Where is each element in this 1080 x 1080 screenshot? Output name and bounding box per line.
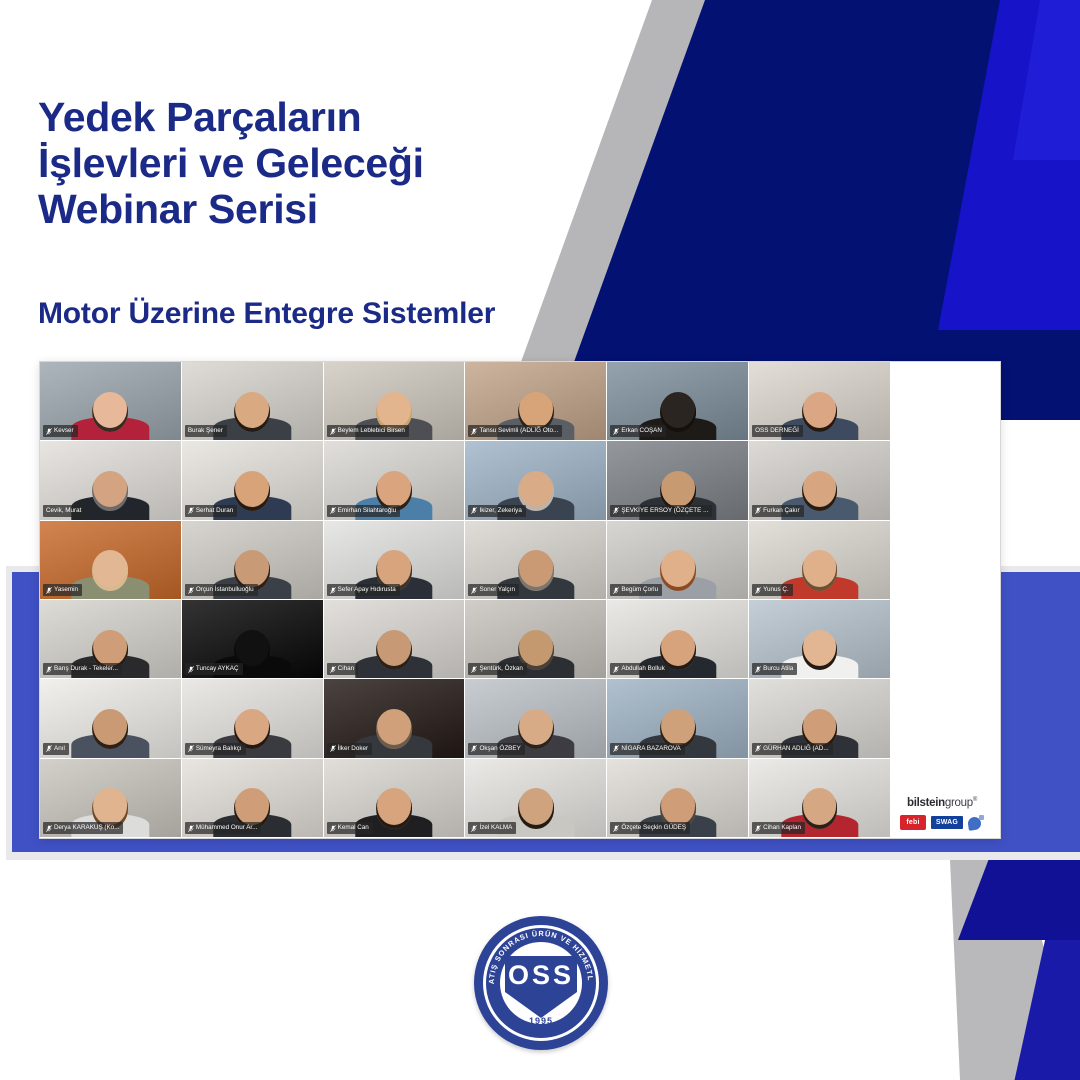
blue-print-logo [968,815,984,830]
swag-logo: SWAG [931,816,963,829]
participant-tile[interactable]: Begüm Çorlu [607,521,748,599]
participant-name-tag: Sefer Apay Hıdırusta [327,584,400,596]
participant-name-tag: Okşan ÖZBEY [468,743,524,755]
participant-tile[interactable]: Cihan Kaplan [749,759,890,837]
participant-name-tag: Begüm Çorlu [610,584,662,596]
participant-name: İzel KALMA [479,824,512,832]
mic-muted-icon [188,745,194,752]
mic-muted-icon [330,587,336,594]
brand-logos-row: febi SWAG [892,815,992,830]
participant-name-tag: Emirhan Silahtaroğlu [327,505,400,517]
participant-tile[interactable]: Erkan COŞAN [607,362,748,440]
participant-name: Burcu Atila [763,665,793,673]
mic-muted-icon [755,666,761,673]
participant-name-tag: Cevik, Murat [43,505,85,517]
participant-name: Serhat Duran [196,507,233,515]
participant-tile[interactable]: Soner Yalçın [465,521,606,599]
mic-muted-icon [755,745,761,752]
oss-center-text: OSS [474,960,608,991]
mic-muted-icon [188,507,194,514]
participant-name: Barış Durak - Tekeler... [54,665,118,673]
mic-muted-icon [755,587,761,594]
participant-tile[interactable]: Burak Şener [182,362,323,440]
participant-tile[interactable]: Tansu Sevimli (ADLIĞ Oto... [465,362,606,440]
mic-muted-icon [471,428,477,435]
participant-name: Özçete Seçkin GÜDEŞ [621,824,686,832]
participant-name: NİGARA BAZAROVA [621,745,680,753]
participant-name: Furkan Çakır [763,507,799,515]
participant-tile[interactable]: Abdullah Bolluk [607,600,748,678]
participant-silhouette [221,392,283,441]
participant-name: Kevser [54,427,74,435]
participant-name: Tansu Sevimli (ADLIĞ Oto... [479,427,558,435]
participant-name-tag: Şentürk, Özkan [468,663,526,675]
participant-tile[interactable]: ŞEVKİYE ERSOY (ÖZÇETE ... [607,441,748,519]
participant-name-tag: NİGARA BAZAROVA [610,743,684,755]
mic-muted-icon [613,745,619,752]
participant-name-tag: Ikizer, Zekeriya [468,505,525,517]
participant-tile[interactable]: Yasemin [40,521,181,599]
participant-tile[interactable]: Okşan ÖZBEY [465,679,606,757]
title-line-1: Yedek Parçaların [38,95,424,141]
participant-tile[interactable]: Sefer Apay Hıdırusta [324,521,465,599]
participant-name-tag: GÜRHAN ADLIĞ (AD... [752,743,832,755]
mic-muted-icon [188,825,194,832]
mic-muted-icon [330,666,336,673]
participant-name: Tuncay AYKAÇ [196,665,239,673]
participant-name-tag: Barış Durak - Tekeler... [43,663,122,675]
participant-tile[interactable]: Şentürk, Özkan [465,600,606,678]
participant-tile[interactable]: Cevik, Murat [40,441,181,519]
participant-name: Şentürk, Özkan [479,665,522,673]
participant-name: Erkan COŞAN [621,427,662,435]
participant-silhouette [363,709,425,758]
oss-logo: OTOMOTİV SATIŞ SONRASI ÜRÜN VE HİZMETLER… [474,916,608,1050]
participant-name: Mühammed Onur Ar... [196,824,258,832]
mic-muted-icon [613,666,619,673]
mic-muted-icon [330,825,336,832]
participant-name-tag: Cihan Kaplan [752,822,805,834]
mic-muted-icon [188,587,194,594]
participant-name: OSS DERNEĞİ [755,427,799,435]
participant-name: Kemal Can [338,824,369,832]
participant-tile[interactable]: Yunus Ç. [749,521,890,599]
blue-print-tick-icon [979,815,984,820]
participant-name: Abdullah Bolluk [621,665,664,673]
participant-name-tag: Serhat Duran [185,505,237,517]
video-conference-panel: KevserBurak ŞenerBeylem Leblebici Birsen… [40,362,1000,838]
registered-mark: ® [973,797,977,803]
mic-muted-icon [613,428,619,435]
participant-tile[interactable]: Kevser [40,362,181,440]
participant-silhouette [789,630,851,679]
title-line-3: Webinar Serisi [38,187,424,233]
participant-tile[interactable]: Burcu Atila [749,600,890,678]
participant-silhouette [79,471,141,520]
mic-muted-icon [471,666,477,673]
participant-name: Ikizer, Zekeriya [479,507,521,515]
participant-name-tag: Tansu Sevimli (ADLIĞ Oto... [468,425,562,437]
participant-name: Cevik, Murat [46,507,81,515]
mic-muted-icon [330,507,336,514]
participant-name: ŞEVKİYE ERSOY (ÖZÇETE ... [621,507,708,515]
bilstein-group-logo: bilsteingroup® febi SWAG [892,797,992,830]
participant-tile[interactable]: Özçete Seçkin GÜDEŞ [607,759,748,837]
mic-muted-icon [471,825,477,832]
title-line-2: İşlevleri ve Geleceği [38,141,424,187]
participant-name-tag: Burak Şener [185,425,227,437]
participant-tile[interactable]: Ikizer, Zekeriya [465,441,606,519]
participant-name-tag: Soner Yalçın [468,584,518,596]
oss-year: 1995 [474,1016,608,1026]
page-title: Yedek Parçaların İşlevleri ve Geleceği W… [38,95,424,233]
participant-name-tag: Yunus Ç. [752,584,793,596]
mic-muted-icon [188,666,194,673]
participant-tile[interactable]: Sümeyra Balıkçı [182,679,323,757]
participant-name-tag: Beylem Leblebici Birsen [327,425,409,437]
participant-tile[interactable]: OSS DERNEĞİ [749,362,890,440]
participant-silhouette [79,550,141,599]
participant-silhouette [789,550,851,599]
participant-grid: KevserBurak ŞenerBeylem Leblebici Birsen… [40,362,890,838]
participant-name-tag: Furkan Çakır [752,505,803,517]
participant-tile[interactable]: Cihan [324,600,465,678]
mic-muted-icon [46,428,52,435]
participant-name: Soner Yalçın [479,586,514,594]
participant-name: Derya KARAKUŞ (Ko... [54,824,119,832]
febi-logo: febi [900,815,926,830]
participant-name-tag: İlker Doker [327,743,372,755]
participant-name: Cihan Kaplan [763,824,801,832]
participant-name-tag: İzel KALMA [468,822,516,834]
participant-name: Cihan [338,665,354,673]
participant-name: Sefer Apay Hıdırusta [338,586,396,594]
participant-tile[interactable]: Emirhan Silahtaroğlu [324,441,465,519]
participant-tile[interactable]: Mühammed Onur Ar... [182,759,323,837]
participant-name-tag: Anıl [43,743,69,755]
bilstein-light: group [945,797,973,809]
mic-muted-icon [471,587,477,594]
mic-muted-icon [613,507,619,514]
participant-name-tag: Kemal Can [327,822,373,834]
participant-silhouette [79,709,141,758]
participant-tile[interactable]: Serhat Duran [182,441,323,519]
participant-name: Orçun İstanbulluoğlu [196,586,254,594]
bilstein-wordmark: bilsteingroup® [892,797,992,809]
participant-name-tag: Cihan [327,663,358,675]
mic-muted-icon [46,587,52,594]
participant-tile[interactable]: Tuncay AYKAÇ [182,600,323,678]
participant-name: Emirhan Silahtaroğlu [338,507,396,515]
participant-name-tag: Yasemin [43,584,82,596]
mic-muted-icon [471,745,477,752]
participant-tile[interactable]: Furkan Çakır [749,441,890,519]
participant-silhouette [363,630,425,679]
bilstein-bold: bilstein [907,797,945,809]
participant-name-tag: Orçun İstanbulluoğlu [185,584,258,596]
participant-name: Sümeyra Balıkçı [196,745,242,753]
page-subtitle: Motor Üzerine Entegre Sistemler [38,297,495,331]
participant-name-tag: Derya KARAKUŞ (Ko... [43,822,123,834]
participant-silhouette [79,392,141,441]
participant-name: Anıl [54,745,65,753]
mic-muted-icon [46,666,52,673]
participant-tile[interactable]: Orçun İstanbulluoğlu [182,521,323,599]
participant-name: GÜRHAN ADLIĞ (AD... [763,745,828,753]
participant-tile[interactable]: Kemal Can [324,759,465,837]
participant-name: Burak Şener [188,427,223,435]
participant-tile[interactable]: Beylem Leblebici Birsen [324,362,465,440]
participant-name-tag: ŞEVKİYE ERSOY (ÖZÇETE ... [610,505,712,517]
mic-muted-icon [755,825,761,832]
participant-name-tag: Tuncay AYKAÇ [185,663,243,675]
participant-name-tag: Kevser [43,425,78,437]
participant-name-tag: Erkan COŞAN [610,425,666,437]
participant-name: İlker Doker [338,745,368,753]
participant-tile[interactable]: Barış Durak - Tekeler... [40,600,181,678]
participant-name-tag: OSS DERNEĞİ [752,425,803,437]
participant-name: Beylem Leblebici Birsen [338,427,405,435]
participant-tile[interactable]: NİGARA BAZAROVA [607,679,748,757]
participant-tile[interactable]: Anıl [40,679,181,757]
mic-muted-icon [755,507,761,514]
participant-name: Okşan ÖZBEY [479,745,520,753]
mic-muted-icon [46,825,52,832]
participant-name: Yasemin [54,586,78,594]
participant-name-tag: Abdullah Bolluk [610,663,668,675]
participant-tile[interactable]: Derya KARAKUŞ (Ko... [40,759,181,837]
mic-muted-icon [330,745,336,752]
mic-muted-icon [471,507,477,514]
participant-name-tag: Sümeyra Balıkçı [185,743,246,755]
participant-name: Begüm Çorlu [621,586,658,594]
participant-tile[interactable]: GÜRHAN ADLIĞ (AD... [749,679,890,757]
participant-name-tag: Mühammed Onur Ar... [185,822,262,834]
mic-muted-icon [613,825,619,832]
mic-muted-icon [330,428,336,435]
participant-name-tag: Özçete Seçkin GÜDEŞ [610,822,690,834]
participant-name-tag: Burcu Atila [752,663,797,675]
mic-muted-icon [46,745,52,752]
participant-tile[interactable]: İlker Doker [324,679,465,757]
participant-tile[interactable]: İzel KALMA [465,759,606,837]
mic-muted-icon [613,587,619,594]
participant-name: Yunus Ç. [763,586,789,594]
